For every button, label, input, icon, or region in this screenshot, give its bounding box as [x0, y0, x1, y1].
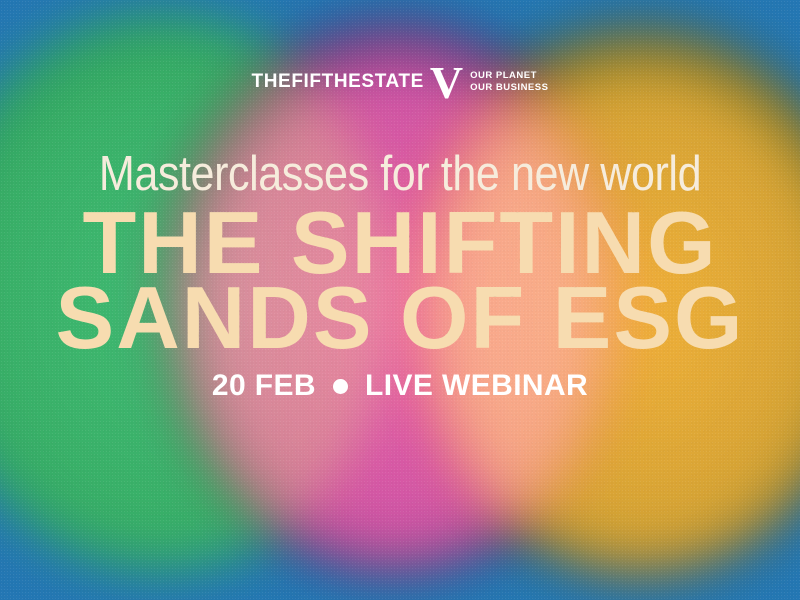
logo-v-monogram-icon: V [430, 64, 463, 102]
brand-logo[interactable]: THEFIFTHESTATE V OUR PLANET OUR BUSINESS [0, 63, 800, 101]
event-meta: 20 FEB LIVE WEBINAR [0, 369, 800, 403]
logo-wordmark: THEFIFTHESTATE [252, 72, 424, 91]
logo-tagline-line-1: OUR PLANET [470, 70, 537, 81]
headline-block: Masterclasses for the new world THE SHIF… [0, 150, 800, 359]
promo-banner: THEFIFTHESTATE V OUR PLANET OUR BUSINESS… [0, 0, 800, 600]
headline-title-line-2: SANDS OF ESG [0, 278, 800, 359]
bullet-dot-icon [333, 379, 348, 394]
headline-kicker: Masterclasses for the new world [48, 150, 752, 199]
logo-tagline: OUR PLANET OUR BUSINESS [470, 70, 548, 94]
event-format: LIVE WEBINAR [365, 369, 588, 403]
logo-tagline-line-2: OUR BUSINESS [470, 82, 548, 93]
event-date: 20 FEB [212, 369, 316, 403]
